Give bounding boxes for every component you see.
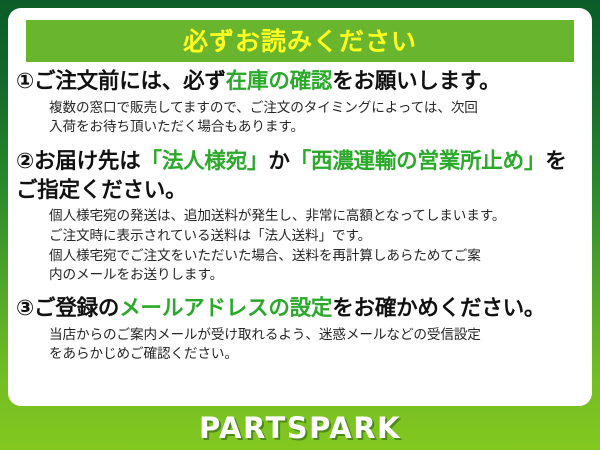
notice-item-1-body-line-1: 複数の窓口で販売してますので、ご注文のタイミングによっては、次回 xyxy=(49,99,582,119)
notice-item-3-heading: ③ご登録のメールアドレスの設定をお確かめください。 xyxy=(16,295,582,324)
footer: PARTSPARK xyxy=(0,406,600,450)
notice-card: 必ずお読みください ①ご注文前には、必ず在庫の確認をお願いします。 複数の窓口で… xyxy=(8,8,592,406)
notice-item-1-heading-part-3: をお願いします。 xyxy=(332,69,500,94)
notice-item-3-body: 当店からのご案内メールが受け取れるよう、迷惑メールなどの受信設定 をあらかじめご… xyxy=(49,326,582,365)
notice-item-2-body: 個人様宅宛の発送は、追加送料が発生し、非常に高額となってしまいます。 ご注文時に… xyxy=(49,207,582,286)
notice-item-1-heading: ①ご注文前には、必ず在庫の確認をお願いします。 xyxy=(16,68,582,97)
notice-item-2-body-line-1: 個人様宅宛の発送は、追加送料が発生し、非常に高額となってしまいます。 xyxy=(49,207,582,227)
notice-item-2-body-line-3: 個人様宅宛でご注文をいただいた場合、送料を再計算しあらためてご案 xyxy=(49,247,582,267)
notice-item-2: ②お届け先は「法人様宛」か「西濃運輸の営業所止め」をご指定ください。 個人様宅宛… xyxy=(16,148,582,286)
notice-item-1-heading-highlight: 在庫の確認 xyxy=(226,69,333,94)
notice-item-3-heading-highlight: メールアドレスの設定 xyxy=(119,296,332,321)
banner: 必ずお読みください xyxy=(26,20,574,62)
notice-item-1-number: ① xyxy=(16,69,34,94)
notice-item-2-heading-highlight-1: 「法人様宛」 xyxy=(141,149,269,174)
notice-item-1-heading-part-1: ご注文前には、必ず xyxy=(34,69,226,94)
notice-frame: 必ずお読みください ①ご注文前には、必ず在庫の確認をお願いします。 複数の窓口で… xyxy=(0,0,600,450)
notice-content: ①ご注文前には、必ず在庫の確認をお願いします。 複数の窓口で販売してますので、ご… xyxy=(8,68,592,367)
notice-item-2-heading-part-3: か xyxy=(268,149,289,174)
notice-item-2-heading: ②お届け先は「法人様宛」か「西濃運輸の営業所止め」をご指定ください。 xyxy=(16,148,582,205)
notice-item-2-heading-highlight-2: 「西濃運輸の営業所止め」 xyxy=(290,149,546,174)
notice-item-3-heading-part-1: ご登録の xyxy=(34,296,119,321)
notice-item-3-body-line-1: 当店からのご案内メールが受け取れるよう、迷惑メールなどの受信設定 xyxy=(49,326,582,346)
notice-item-3-body-line-2: をあらかじめご確認ください。 xyxy=(49,345,582,365)
notice-item-1: ①ご注文前には、必ず在庫の確認をお願いします。 複数の窓口で販売してますので、ご… xyxy=(16,68,582,138)
notice-item-2-number: ② xyxy=(16,149,34,174)
banner-title: 必ずお読みください xyxy=(183,29,417,54)
notice-item-1-body: 複数の窓口で販売してますので、ご注文のタイミングによっては、次回 入荷をお待ち頂… xyxy=(49,99,582,138)
notice-item-2-heading-part-1: お届け先は xyxy=(34,149,141,174)
notice-item-2-body-line-4: 内のメールをお送りします。 xyxy=(49,266,582,286)
notice-item-1-body-line-2: 入荷をお待ち頂いただく場合もあります。 xyxy=(49,118,582,138)
notice-item-3-number: ③ xyxy=(16,296,34,321)
brand-logo: PARTSPARK xyxy=(199,411,401,445)
notice-item-2-body-line-2: ご注文時に表示されている送料は「法人送料」です。 xyxy=(49,227,582,247)
notice-item-3-heading-part-3: をお確かめください。 xyxy=(332,296,545,321)
notice-item-3: ③ご登録のメールアドレスの設定をお確かめください。 当店からのご案内メールが受け… xyxy=(16,295,582,365)
